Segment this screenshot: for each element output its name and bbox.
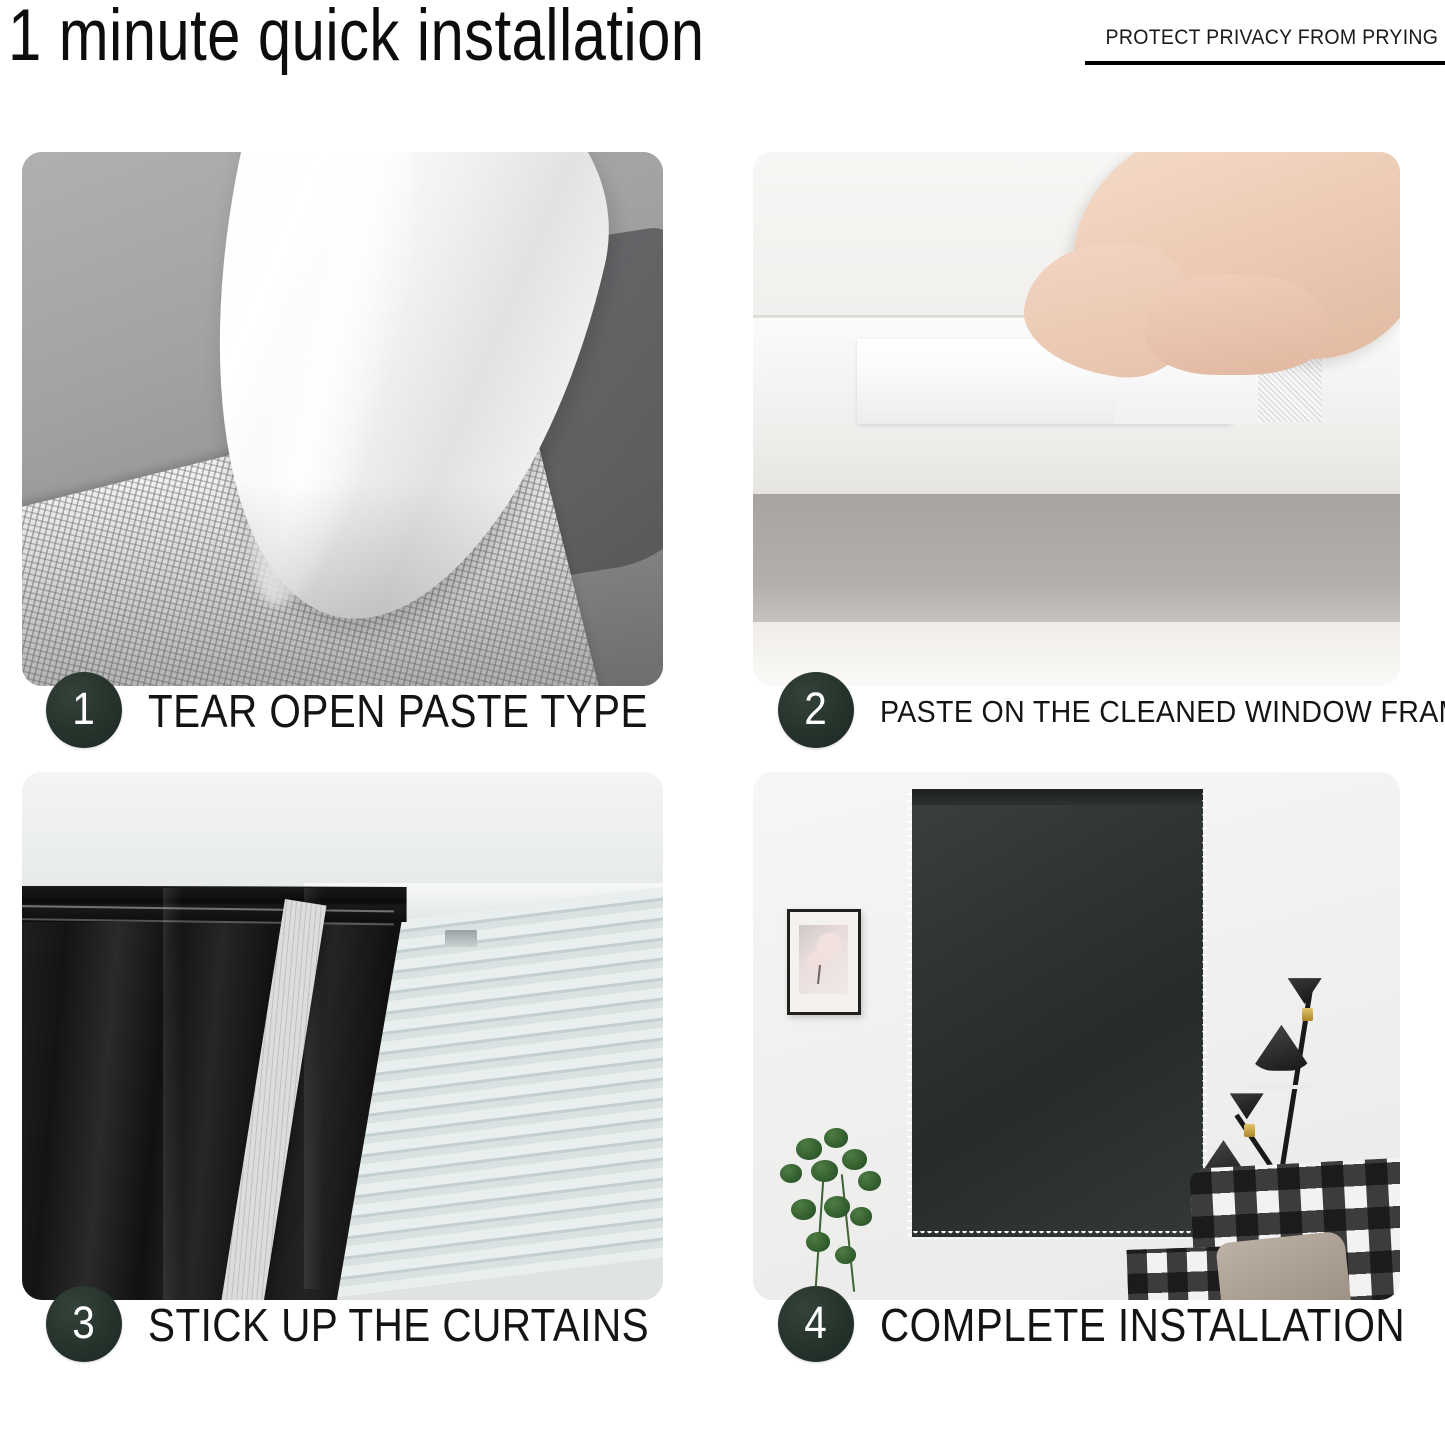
photo2-floor <box>753 622 1400 686</box>
photo4-plant-leaf <box>811 1160 838 1182</box>
photo4-plant-leaf <box>858 1171 881 1191</box>
step-2-label: PASTE ON THE CLEANED WINDOW FRAME <box>880 694 1445 730</box>
photo4-lamp-shade-lip <box>1250 1085 1312 1089</box>
photo3-blind-bracket <box>445 930 477 947</box>
photo4-plant-leaf <box>806 1232 830 1252</box>
photo2-lower-wall <box>753 494 1400 622</box>
header: 1 minute quick installation PROTECT PRIV… <box>0 0 1445 130</box>
step-3-number: 3 <box>73 1300 96 1345</box>
tagline-block: PROTECT PRIVACY FROM PRYING EYES <box>1080 26 1445 65</box>
photo4-plant-leaf <box>824 1196 850 1218</box>
photo3-ceiling <box>22 772 663 888</box>
photo4-plant-stem <box>841 1175 855 1293</box>
photo4-lamp-collar <box>1302 1008 1313 1021</box>
photo2-hand-finger <box>1145 275 1330 375</box>
photo4-picture-artwork <box>799 925 848 994</box>
photo4-plant-leaf <box>791 1199 816 1220</box>
step-3-photo <box>22 772 663 1300</box>
tagline-divider <box>1085 61 1445 65</box>
step-4-badge: 4 <box>778 1286 854 1362</box>
step-1-badge: 1 <box>46 672 122 748</box>
photo4-blind-edge-bottom <box>912 1231 1203 1239</box>
step-4-number: 4 <box>805 1300 828 1345</box>
photo4-blackout-blind <box>912 793 1203 1237</box>
photo4-framed-picture <box>787 909 861 1015</box>
photo4-plant-leaf <box>796 1138 822 1160</box>
photo4-lamp-collar <box>1244 1124 1255 1137</box>
step-3-badge: 3 <box>46 1286 122 1362</box>
photo4-plant-leaf <box>835 1246 856 1264</box>
photo2-hand <box>1025 152 1400 398</box>
tagline-text: PROTECT PRIVACY FROM PRYING EYES <box>1106 26 1445 50</box>
photo4-artwork-stem <box>817 965 821 984</box>
step-1-label: TEAR OPEN PASTE TYPE <box>148 688 648 734</box>
photo4-potted-plant <box>772 1120 901 1300</box>
photo4-plant-leaf <box>842 1149 867 1170</box>
step-4-label: COMPLETE INSTALLATION <box>880 1302 1405 1348</box>
photo3-curtain-pleat <box>163 888 182 1300</box>
step-1-photo <box>22 152 663 686</box>
photo4-plant-leaf <box>850 1207 872 1226</box>
step-2-badge: 2 <box>778 672 854 748</box>
step-1-number: 1 <box>73 686 96 731</box>
step-2-photo <box>753 152 1400 686</box>
photo4-lamp-shade-upper <box>1288 978 1322 1004</box>
photo4-blind-header <box>912 789 1203 805</box>
photo1-shadow <box>22 482 663 686</box>
step-2-number: 2 <box>805 686 828 731</box>
page-title: 1 minute quick installation <box>8 0 705 76</box>
photo4-plant-leaf <box>824 1128 848 1148</box>
photo4-picture-mat <box>790 912 858 1012</box>
photo4-plant-leaf <box>780 1164 802 1183</box>
step-3-label: STICK UP THE CURTAINS <box>148 1302 649 1348</box>
photo3-curtain-header <box>22 886 407 923</box>
photo4-blind-edge-left <box>906 793 914 1237</box>
step-4-photo <box>753 772 1400 1300</box>
